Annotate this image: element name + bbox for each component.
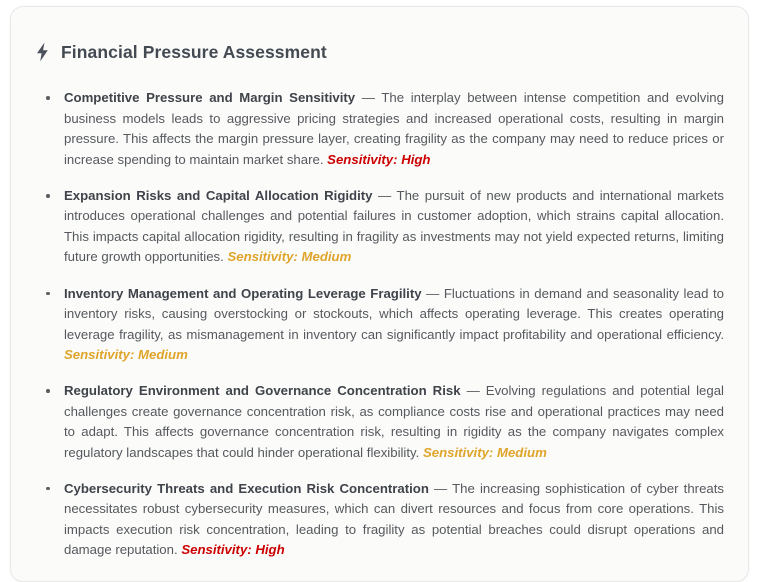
- risk-bullet-list: Competitive Pressure and Margin Sensitiv…: [33, 88, 726, 560]
- risk-title: Regulatory Environment and Governance Co…: [64, 383, 461, 398]
- list-item: Regulatory Environment and Governance Co…: [42, 381, 726, 463]
- status-badge: Sensitivity: Medium: [227, 249, 351, 264]
- risk-title: Cybersecurity Threats and Execution Risk…: [64, 481, 429, 496]
- risk-title: Expansion Risks and Capital Allocation R…: [64, 188, 373, 203]
- status-badge: Sensitivity: High: [181, 542, 284, 557]
- risk-title: Competitive Pressure and Margin Sensitiv…: [64, 90, 355, 105]
- status-badge: Sensitivity: Medium: [423, 445, 547, 460]
- list-item: Expansion Risks and Capital Allocation R…: [42, 186, 726, 268]
- risk-title: Inventory Management and Operating Lever…: [64, 286, 422, 301]
- card-header: Financial Pressure Assessment: [35, 29, 726, 74]
- risk-dash: —: [378, 188, 391, 203]
- list-item: Inventory Management and Operating Lever…: [42, 284, 726, 366]
- list-item: Cybersecurity Threats and Execution Risk…: [42, 479, 726, 561]
- page-root: Financial Pressure Assessment Competitiv…: [0, 0, 759, 567]
- lightning-bolt-icon: [35, 42, 50, 62]
- risk-dash: —: [362, 90, 375, 105]
- risk-dash: —: [467, 383, 480, 398]
- status-badge: Sensitivity: High: [327, 152, 430, 167]
- risk-dash: —: [426, 286, 439, 301]
- risk-dash: —: [434, 481, 447, 496]
- page-title: Financial Pressure Assessment: [61, 41, 327, 63]
- financial-pressure-assessment-card: Financial Pressure Assessment Competitiv…: [10, 6, 749, 582]
- list-item: Competitive Pressure and Margin Sensitiv…: [42, 88, 726, 170]
- status-badge: Sensitivity: Medium: [64, 347, 188, 362]
